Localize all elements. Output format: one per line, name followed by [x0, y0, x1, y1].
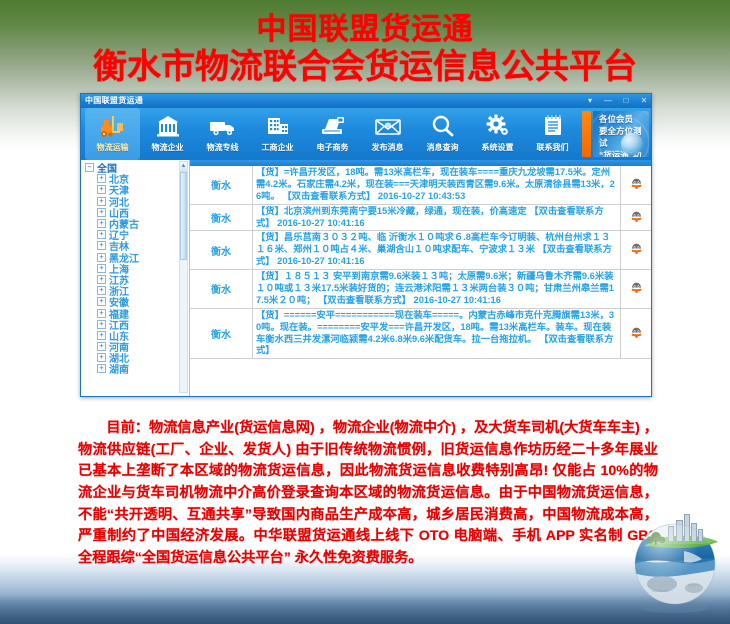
page-title: 中国联盟货运通 衡水市物流联合会货运信息公共平台: [0, 14, 730, 86]
cell-city: 衡水: [190, 231, 253, 269]
toolbar-button-ecommerce[interactable]: 电子商务: [305, 108, 360, 160]
toolbar-button-system-settings[interactable]: 系统设置: [470, 108, 525, 160]
sidebar-item-label: 湖南: [109, 361, 129, 376]
cell-contact[interactable]: [621, 205, 651, 231]
table-row[interactable]: 衡水【货】北京滨州到东莞南宁要15米冷藏，绿通，现在装，价高速定 【双击查看联系…: [190, 205, 651, 232]
expand-icon[interactable]: +: [97, 208, 106, 217]
toolbar-button-logistics-company[interactable]: 物流企业: [140, 108, 195, 160]
sidebar-item-province[interactable]: +江西: [84, 319, 189, 330]
table-body: 衡水【货】=许昌开发区，18吨。需13米高栏车，现在装车====重庆九龙坡需17…: [190, 166, 651, 359]
expand-icon[interactable]: +: [97, 197, 106, 206]
expand-icon[interactable]: +: [97, 320, 106, 329]
expand-icon[interactable]: +: [97, 286, 106, 295]
toolbar-label: 系统设置: [482, 142, 514, 153]
expand-icon[interactable]: +: [97, 264, 106, 273]
toolbar-button-contact-us[interactable]: 联系我们: [525, 108, 580, 160]
toolbar-label: 联系我们: [537, 142, 569, 153]
table-row[interactable]: 衡水【货】昌乐莒南３０３２吨、临 沂衡水１０吨求６.8高栏车今订明装、杭州台州求…: [190, 231, 651, 270]
sidebar-item-province[interactable]: +江苏: [84, 274, 189, 285]
sidebar-item-province[interactable]: +天津: [84, 184, 189, 195]
ecommerce-icon: [318, 111, 348, 141]
scrollbar-thumb[interactable]: [180, 172, 187, 260]
freight-message-table: 衡水【货】=许昌开发区，18吨。需13米高栏车，现在装车====重庆九龙坡需17…: [190, 160, 651, 396]
page-title-line-1: 中国联盟货运通: [0, 14, 730, 46]
expand-icon[interactable]: +: [97, 331, 106, 340]
office-icon: [263, 111, 293, 141]
expand-icon[interactable]: +: [97, 241, 106, 250]
qq-icon[interactable]: [630, 282, 643, 296]
sidebar-item-province[interactable]: +黑龙江: [84, 252, 189, 263]
region-tree: − 全国 +北京+天津+河北+山西+内蒙古+辽宁+吉林+黑龙江+上海+江苏+浙江…: [81, 160, 189, 375]
collapse-icon[interactable]: −: [85, 163, 94, 172]
sidebar-item-province[interactable]: +安徽: [84, 296, 189, 307]
window-close-button[interactable]: ✕: [639, 97, 649, 105]
qq-icon[interactable]: [630, 327, 643, 341]
expand-icon[interactable]: +: [97, 219, 106, 228]
cell-message[interactable]: 【货】北京滨州到东莞南宁要15米冷藏，绿通，现在装，价高速定 【双击查看联系方式…: [253, 205, 621, 231]
sidebar-item-province[interactable]: +内蒙古: [84, 218, 189, 229]
main-toolbar: 物流运输 物流企业: [81, 108, 651, 160]
cell-message[interactable]: 【货】======安平===========现在装车=====。内蒙古赤峰市克什…: [253, 309, 621, 359]
expand-icon[interactable]: +: [97, 342, 106, 351]
toolbar-label: 电子商务: [317, 142, 349, 153]
expand-icon[interactable]: +: [97, 230, 106, 239]
cell-contact[interactable]: [621, 309, 651, 359]
toolbar-button-message-query[interactable]: 消息查询: [415, 108, 470, 160]
sidebar-item-province[interactable]: +福建: [84, 307, 189, 318]
sidebar-item-national[interactable]: − 全国: [84, 162, 189, 173]
window-title-bar[interactable]: 中国联盟货运通 ▾ — □ ✕: [81, 94, 651, 108]
table-row[interactable]: 衡水【货】=许昌开发区，18吨。需13米高栏车，现在装车====重庆九龙坡需17…: [190, 166, 651, 205]
toolbar-divider: [582, 111, 591, 157]
table-row[interactable]: 衡水【货】１８５１３ 安平到南京需9.6米装１３吨；太原需9.6米；新疆乌鲁木齐…: [190, 270, 651, 309]
description-paragraph: 目前：物流信息产业(货运信息网) ，物流企业(物流中介) ，及大货车司机(大货车…: [78, 418, 658, 569]
cell-message[interactable]: 【货】=许昌开发区，18吨。需13米高栏车，现在装车====重庆九龙坡需17.5…: [253, 166, 621, 204]
qq-icon[interactable]: [630, 211, 643, 225]
cell-contact[interactable]: [621, 166, 651, 204]
cell-city: 衡水: [190, 309, 253, 359]
scroll-up-arrow[interactable]: ▲: [180, 162, 187, 172]
forklift-icon: [98, 111, 128, 141]
sidebar-item-province[interactable]: +浙江: [84, 285, 189, 296]
window-title: 中国联盟货运通: [85, 95, 143, 106]
cell-message[interactable]: 【货】昌乐莒南３０３２吨、临 沂衡水１０吨求６.8高栏车今订明装、杭州台州求１３…: [253, 231, 621, 269]
application-window: 中国联盟货运通 ▾ — □ ✕ 物流运输: [80, 93, 652, 397]
expand-icon[interactable]: +: [97, 364, 106, 373]
toolbar-label: 消息查询: [427, 142, 459, 153]
sidebar-item-province[interactable]: +北京: [84, 173, 189, 184]
gear-icon: [483, 111, 513, 141]
document-icon: [538, 111, 568, 141]
region-tree-items: +北京+天津+河北+山西+内蒙古+辽宁+吉林+黑龙江+上海+江苏+浙江+安徽+福…: [84, 173, 189, 374]
window-minimize-button[interactable]: —: [603, 97, 613, 105]
toolbar-button-industrial-company[interactable]: 工商企业: [250, 108, 305, 160]
building-icon: [153, 111, 183, 141]
cell-city: 衡水: [190, 270, 253, 308]
page-title-line-2: 衡水市物流联合会货运信息公共平台: [0, 49, 730, 86]
qq-icon[interactable]: [630, 243, 643, 257]
search-icon: [428, 111, 458, 141]
expand-icon[interactable]: +: [97, 353, 106, 362]
sidebar-item-province[interactable]: +河南: [84, 341, 189, 352]
window-menu-button[interactable]: ▾: [585, 97, 595, 105]
cell-contact[interactable]: [621, 270, 651, 308]
cell-message[interactable]: 【货】１８５１３ 安平到南京需9.6米装１３吨；太原需9.6米；新疆乌鲁木齐需9…: [253, 270, 621, 308]
expand-icon[interactable]: +: [97, 253, 106, 262]
window-body: − 全国 +北京+天津+河北+山西+内蒙古+辽宁+吉林+黑龙江+上海+江苏+浙江…: [81, 160, 651, 396]
expand-icon[interactable]: +: [97, 174, 106, 183]
promo-globe-icon: [621, 133, 643, 155]
region-tree-sidebar: − 全国 +北京+天津+河北+山西+内蒙古+辽宁+吉林+黑龙江+上海+江苏+浙江…: [81, 160, 190, 396]
promo-banner[interactable]: 各位会员 要全方位测试 “货运通”功能！: [593, 111, 649, 157]
promo-line-1: 各位会员: [599, 113, 649, 125]
sidebar-item-province[interactable]: +湖南: [84, 363, 189, 374]
cell-city: 衡水: [190, 166, 253, 204]
earth-city-globe-image: AUSTRALIAPACIFIC: [622, 506, 728, 618]
toolbar-label: 工商企业: [262, 142, 294, 153]
sidebar-item-province[interactable]: +湖北: [84, 352, 189, 363]
toolbar-label: 发布消息: [372, 142, 404, 153]
expand-icon[interactable]: +: [97, 297, 106, 306]
expand-icon[interactable]: +: [97, 309, 106, 318]
sidebar-scrollbar[interactable]: ▲: [179, 161, 188, 393]
toolbar-label: 物流运输: [97, 142, 129, 153]
qq-icon[interactable]: [630, 178, 643, 192]
cell-city: 衡水: [190, 205, 253, 231]
toolbar-button-logistics-transport[interactable]: 物流运输: [85, 108, 140, 160]
window-maximize-button[interactable]: □: [621, 97, 631, 105]
truck-icon: [208, 111, 238, 141]
envelope-icon: [373, 111, 403, 141]
sidebar-item-province[interactable]: +河北: [84, 196, 189, 207]
table-row[interactable]: 衡水【货】======安平===========现在装车=====。内蒙古赤峰市…: [190, 309, 651, 360]
toolbar-button-publish-message[interactable]: 发布消息: [360, 108, 415, 160]
window-controls: ▾ — □ ✕: [585, 94, 649, 108]
toolbar-button-logistics-line[interactable]: 物流专线: [195, 108, 250, 160]
sidebar-item-province[interactable]: +山东: [84, 330, 189, 341]
toolbar-label: 物流企业: [152, 142, 184, 153]
expand-icon[interactable]: +: [97, 185, 106, 194]
cell-contact[interactable]: [621, 231, 651, 269]
toolbar-label: 物流专线: [207, 142, 239, 153]
expand-icon[interactable]: +: [97, 275, 106, 284]
